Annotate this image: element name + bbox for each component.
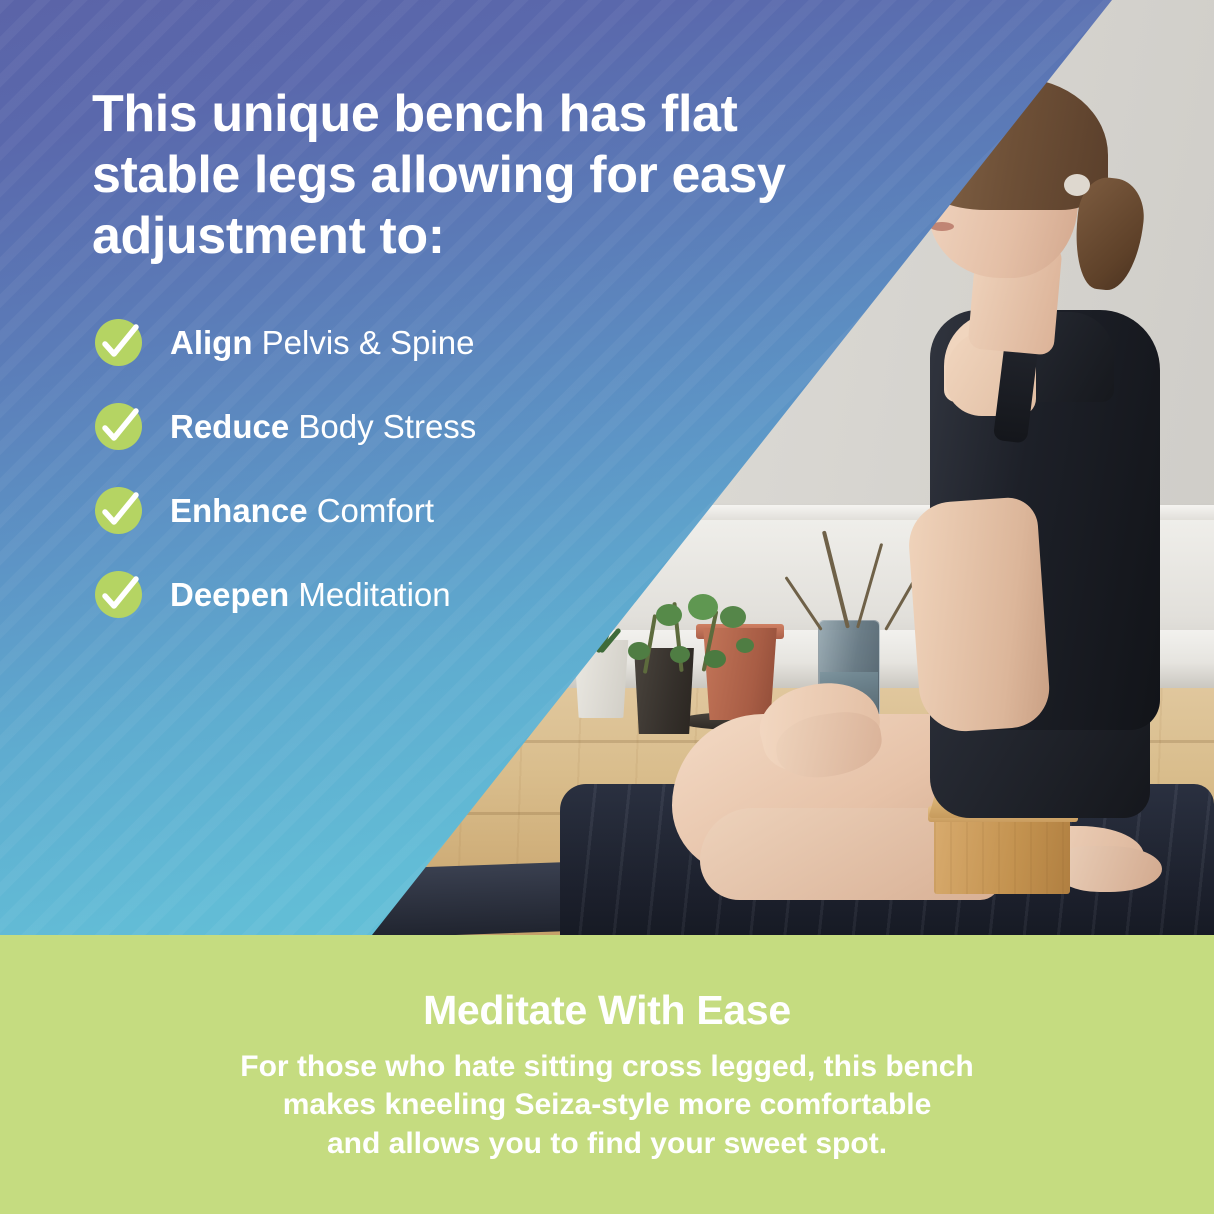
benefit-label: Align Pelvis & Spine xyxy=(170,326,474,359)
benefit-label: Deepen Meditation xyxy=(170,578,451,611)
footer-banner: Meditate With Ease For those who hate si… xyxy=(0,935,1214,1214)
check-mark-glyph xyxy=(92,316,146,370)
benefit-rest: Pelvis & Spine xyxy=(252,324,474,361)
benefit-emphasis: Enhance xyxy=(170,492,308,529)
arm xyxy=(906,496,1052,735)
hair-tie xyxy=(1064,174,1090,196)
check-mark-glyph xyxy=(92,400,146,454)
benefit-emphasis: Deepen xyxy=(170,576,289,613)
benefits-list: Align Pelvis & Spine Reduce Body Stress … xyxy=(92,300,732,636)
benefit-label: Enhance Comfort xyxy=(170,494,434,527)
list-item: Deepen Meditation xyxy=(92,552,732,636)
check-mark-glyph xyxy=(92,568,146,622)
product-infographic: This unique bench has flat stable legs a… xyxy=(0,0,1214,1214)
foot-second xyxy=(1058,846,1162,892)
list-item: Enhance Comfort xyxy=(92,468,732,552)
page-title: This unique bench has flat stable legs a… xyxy=(92,84,882,266)
footer-line-3: and allows you to find your sweet spot. xyxy=(70,1125,1144,1163)
list-item: Reduce Body Stress xyxy=(92,384,732,468)
meditation-bench xyxy=(934,810,1070,894)
benefit-emphasis: Align xyxy=(170,324,252,361)
benefit-emphasis: Reduce xyxy=(170,408,289,445)
footer-title: Meditate With Ease xyxy=(0,987,1214,1034)
benefit-rest: Meditation xyxy=(289,576,450,613)
footer-line-1: For those who hate sitting cross legged,… xyxy=(70,1048,1144,1086)
check-icon xyxy=(92,400,144,452)
benefit-rest: Comfort xyxy=(308,492,435,529)
list-item: Align Pelvis & Spine xyxy=(92,300,732,384)
check-icon xyxy=(92,316,144,368)
check-icon xyxy=(92,484,144,536)
benefit-label: Reduce Body Stress xyxy=(170,410,476,443)
footer-description: For those who hate sitting cross legged,… xyxy=(0,1048,1214,1163)
check-icon xyxy=(92,568,144,620)
footer-line-2: makes kneeling Seiza-style more comforta… xyxy=(70,1086,1144,1124)
benefit-rest: Body Stress xyxy=(289,408,476,445)
check-mark-glyph xyxy=(92,484,146,538)
